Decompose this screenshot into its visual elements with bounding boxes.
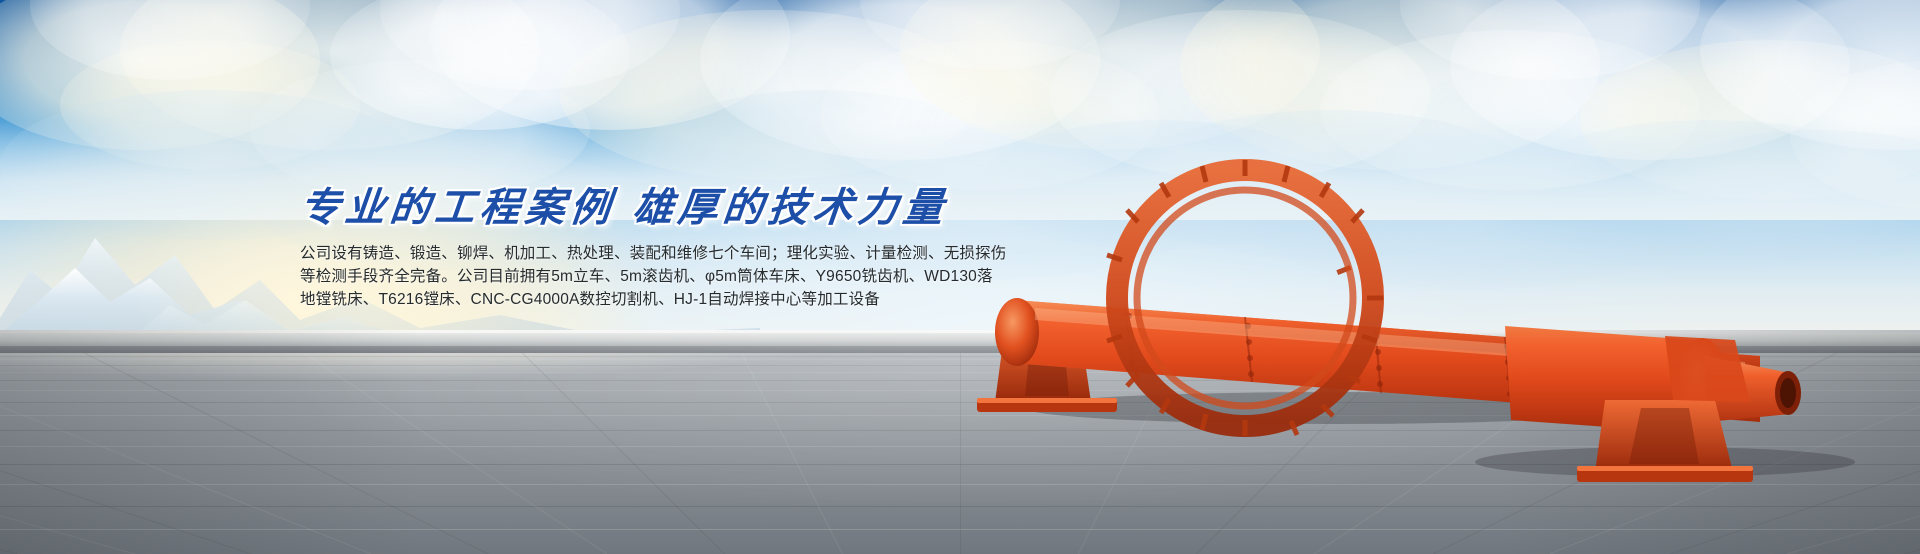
- headline-part-2: 雄厚的技术力量: [631, 185, 951, 230]
- hero-banner: 专业的工程案例雄厚的技术力量 公司设有铸造、锻造、铆焊、机加工、热处理、装配和维…: [0, 0, 1920, 554]
- headline-part-1: 专业的工程案例: [298, 185, 618, 230]
- banner-description: 公司设有铸造、锻造、铆焊、机加工、热处理、装配和维修七个车间；理化实验、计量检测…: [300, 242, 940, 311]
- ball-mill-machine: [905, 150, 1920, 490]
- description-line-3: 地镗铣床、T6216镗床、CNC-CG4000A数控切割机、HJ-1自动焊接中心…: [300, 288, 940, 311]
- description-line-2: 等检测手段齐全完备。公司目前拥有5m立车、5m滚齿机、φ5m筒体车床、Y9650…: [300, 265, 940, 288]
- description-line-1: 公司设有铸造、锻造、铆焊、机加工、热处理、装配和维修七个车间；理化实验、计量检测…: [300, 242, 940, 265]
- banner-headline: 专业的工程案例雄厚的技术力量: [298, 186, 943, 230]
- banner-text-block: 专业的工程案例雄厚的技术力量 公司设有铸造、锻造、铆焊、机加工、热处理、装配和维…: [300, 186, 940, 311]
